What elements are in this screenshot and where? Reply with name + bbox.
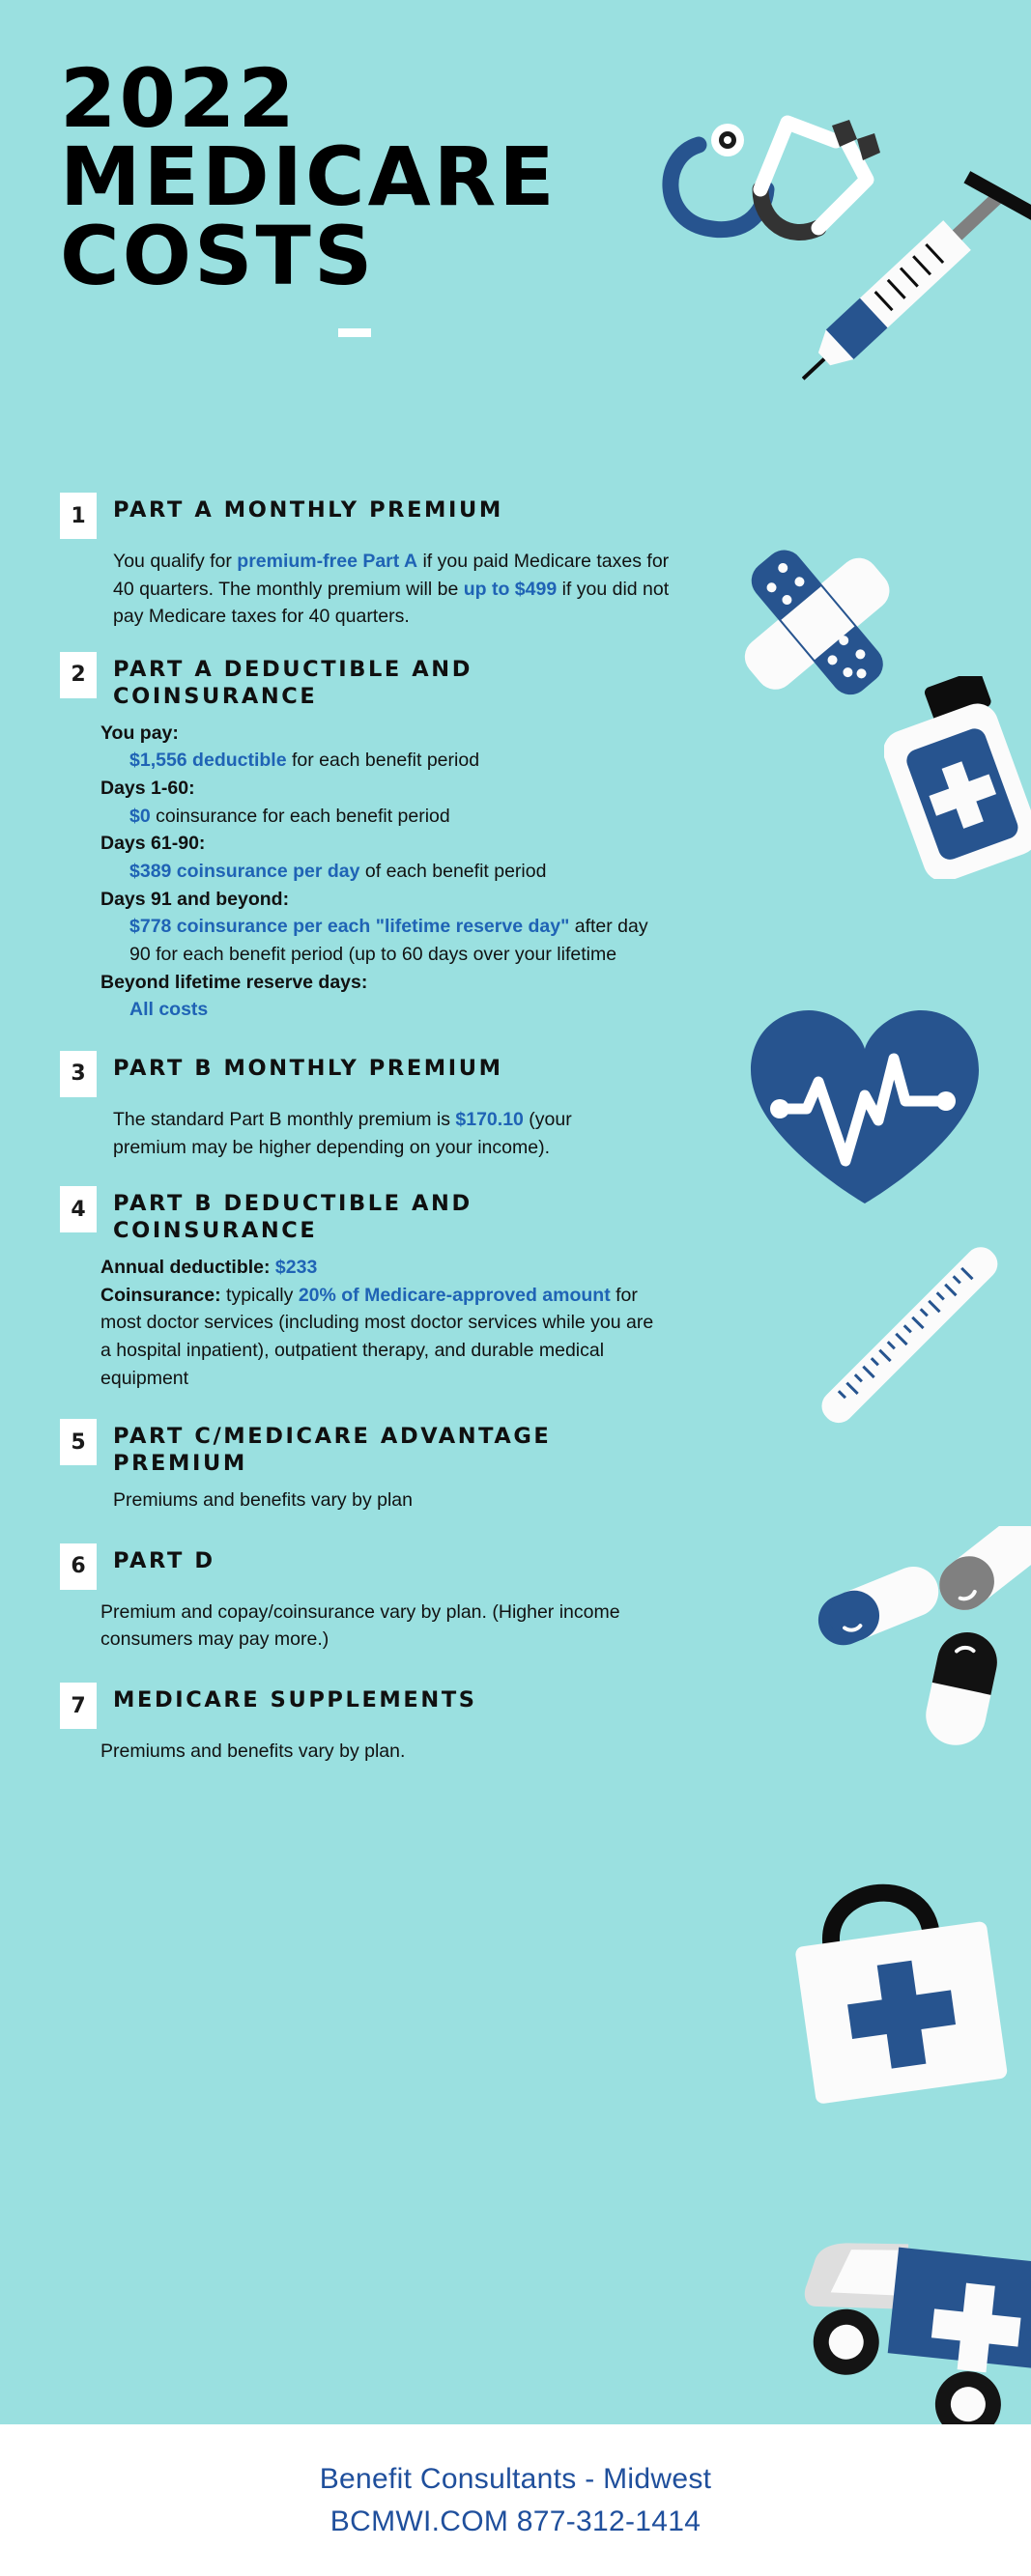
value-days-1-60: $0 coinsurance for each benefit period <box>129 803 661 831</box>
highlight-up-to-499: up to $499 <box>464 579 557 600</box>
section-number: 5 <box>60 1419 97 1465</box>
text-run: typically <box>221 1285 299 1306</box>
stethoscope-icon <box>643 97 884 290</box>
coinsurance-line: Coinsurance: typically 20% of Medicare-a… <box>100 1282 661 1393</box>
section-number: 2 <box>60 652 97 698</box>
section-number: 3 <box>60 1051 97 1097</box>
section-body: Premiums and benefits vary by plan. <box>100 1738 671 1766</box>
section-number: 4 <box>60 1186 97 1232</box>
title-line-costs: COSTS <box>60 217 659 296</box>
highlight-778-coinsurance: $778 coinsurance per each "lifetime rese… <box>129 916 569 937</box>
section-header: 7 MEDICARE SUPPLEMENTS <box>60 1683 734 1729</box>
ambulance-icon <box>773 2222 1031 2444</box>
section-body: The standard Part B monthly premium is $… <box>113 1106 616 1161</box>
highlight-170-10: $170.10 <box>455 1109 524 1130</box>
section-header: 3 PART B MONTHLY PREMIUM <box>60 1051 734 1097</box>
annual-deductible-line: Annual deductible: $233 <box>100 1254 661 1282</box>
text-run: of each benefit period <box>359 861 546 882</box>
section-part-b-deductible: 4 PART B DEDUCTIBLE AND COINSURANCE Annu… <box>0 1186 734 1392</box>
section-number: 7 <box>60 1683 97 1729</box>
footer: Benefit Consultants - Midwest BCMWI.COM … <box>0 2424 1031 2576</box>
section-body: You qualify for premium-free Part A if y… <box>113 548 683 631</box>
value-all-costs: All costs <box>129 996 661 1024</box>
highlight-20-percent: 20% of Medicare-approved amount <box>299 1285 611 1306</box>
section-part-c-premium: 5 PART C/MEDICARE ADVANTAGE PREMIUM Prem… <box>0 1419 734 1514</box>
section-title: PART C/MEDICARE ADVANTAGE PREMIUM <box>113 1419 693 1478</box>
section-title: PART D <box>113 1543 215 1575</box>
section-part-d: 6 PART D Premium and copay/coinsurance v… <box>0 1543 734 1654</box>
highlight-premium-free: premium-free Part A <box>237 551 417 572</box>
first-aid-bag-icon <box>754 1874 1015 2115</box>
label-beyond-reserve-days: Beyond lifetime reserve days: <box>100 969 661 997</box>
sections-list: 1 PART A MONTHLY PREMIUM You qualify for… <box>0 493 734 1771</box>
label-annual-deductible: Annual deductible: <box>100 1257 275 1278</box>
section-title: MEDICARE SUPPLEMENTS <box>113 1683 477 1714</box>
section-title: PART A DEDUCTIBLE AND COINSURANCE <box>113 652 519 711</box>
section-part-a-deductible: 2 PART A DEDUCTIBLE AND COINSURANCE You … <box>0 652 734 1024</box>
title-line-year: 2022 <box>60 60 659 138</box>
text-run: for each benefit period <box>287 750 479 771</box>
footer-contact[interactable]: BCMWI.COM 877-312-1414 <box>330 2501 701 2543</box>
label-days-61-90: Days 61-90: <box>100 830 661 858</box>
heart-ekg-icon <box>739 1003 990 1215</box>
infographic-poster: 2022 MEDICARE COSTS 1 PART A MONTHLY PRE… <box>0 0 1031 2576</box>
section-title: PART B DEDUCTIBLE AND COINSURANCE <box>113 1186 519 1245</box>
section-header: 4 PART B DEDUCTIBLE AND COINSURANCE <box>60 1186 734 1245</box>
section-header: 1 PART A MONTHLY PREMIUM <box>60 493 734 539</box>
medicine-bottle-icon <box>884 676 1031 879</box>
thermometer-icon <box>783 1212 1031 1463</box>
highlight-1556-deductible: $1,556 deductible <box>129 750 287 771</box>
highlight-389-coinsurance: $389 coinsurance per day <box>129 861 359 882</box>
value-deductible: $1,556 deductible for each benefit perio… <box>129 747 661 775</box>
section-body: Premiums and benefits vary by plan <box>113 1486 683 1514</box>
label-you-pay: You pay: <box>100 720 661 748</box>
text-run: The standard Part B monthly premium is <box>113 1109 455 1130</box>
section-number: 1 <box>60 493 97 539</box>
text-run: You qualify for <box>113 551 237 572</box>
section-header: 5 PART C/MEDICARE ADVANTAGE PREMIUM <box>60 1419 734 1478</box>
highlight-233: $233 <box>275 1257 317 1278</box>
section-header: 2 PART A DEDUCTIBLE AND COINSURANCE <box>60 652 734 711</box>
label-days-91-beyond: Days 91 and beyond: <box>100 886 661 914</box>
bandage-icon <box>720 526 913 720</box>
value-days-61-90: $389 coinsurance per day of each benefit… <box>129 858 661 886</box>
footer-company-name: Benefit Consultants - Midwest <box>320 2458 712 2501</box>
label-coinsurance: Coinsurance: <box>100 1285 221 1306</box>
label-days-1-60: Days 1-60: <box>100 775 661 803</box>
pills-icon <box>812 1526 1031 1768</box>
section-medicare-supplements: 7 MEDICARE SUPPLEMENTS Premiums and bene… <box>0 1683 734 1766</box>
section-title: PART B MONTHLY PREMIUM <box>113 1051 503 1083</box>
section-body: Premium and copay/coinsurance vary by pl… <box>100 1599 642 1654</box>
section-number: 6 <box>60 1543 97 1590</box>
section-part-b-premium: 3 PART B MONTHLY PREMIUM The standard Pa… <box>0 1051 734 1161</box>
section-header: 6 PART D <box>60 1543 734 1590</box>
text-run: coinsurance for each benefit period <box>151 806 450 827</box>
section-body: Annual deductible: $233 Coinsurance: typ… <box>100 1254 661 1392</box>
syringe-icon <box>802 159 1031 439</box>
value-days-91-beyond: $778 coinsurance per each "lifetime rese… <box>129 913 661 968</box>
section-part-a-premium: 1 PART A MONTHLY PREMIUM You qualify for… <box>0 493 734 631</box>
section-title: PART A MONTHLY PREMIUM <box>113 493 503 524</box>
title-divider <box>338 328 371 337</box>
page-title: 2022 MEDICARE COSTS <box>60 60 659 337</box>
title-line-medicare: MEDICARE <box>60 138 659 216</box>
section-body: You pay: $1,556 deductible for each bene… <box>100 720 661 1024</box>
highlight-zero: $0 <box>129 806 151 827</box>
